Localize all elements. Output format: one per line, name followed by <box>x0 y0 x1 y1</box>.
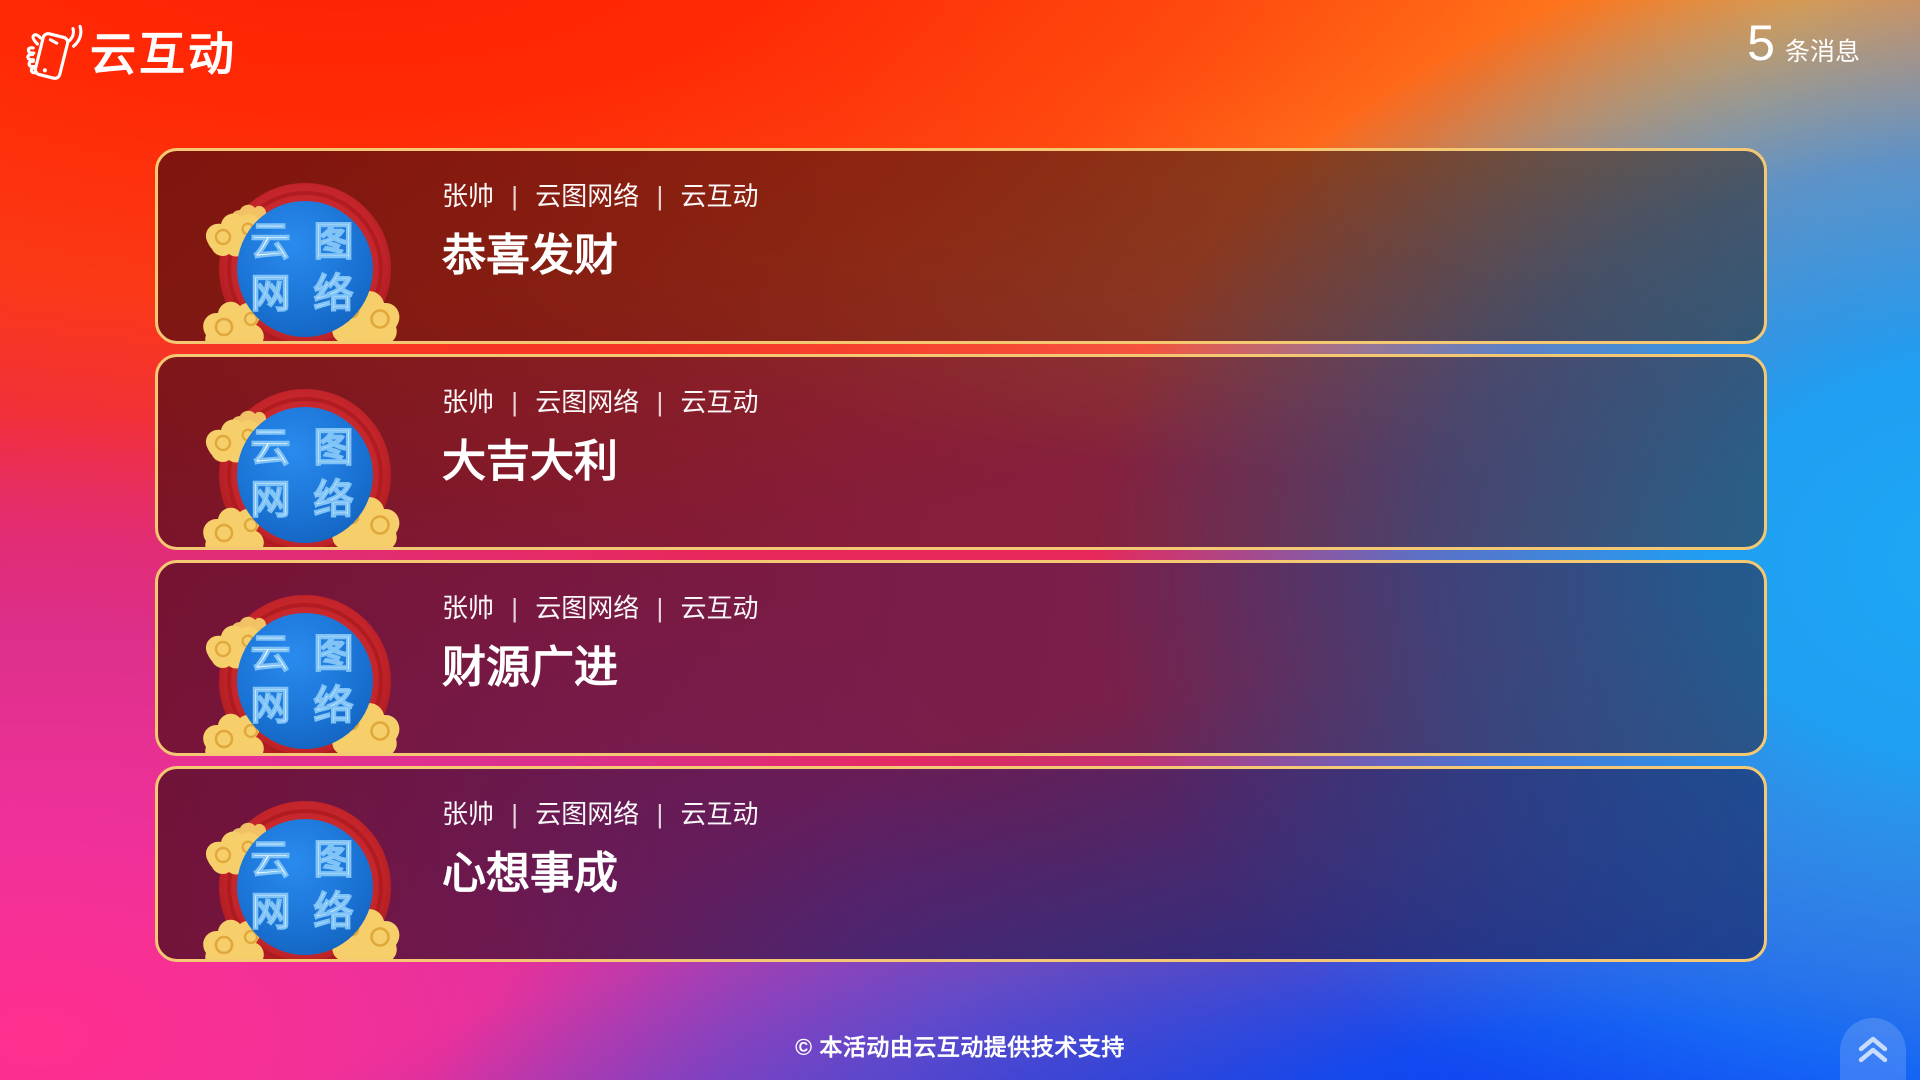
brand-logo[interactable]: 云互动 <box>22 21 237 87</box>
svg-text:云 图: 云 图 <box>250 426 359 470</box>
message-org: 云图网络 <box>535 387 639 417</box>
message-org: 云图网络 <box>535 593 639 623</box>
message-card[interactable]: 云 图 网 络 张帅 | 云图网络 | 云互动 大吉大利 <box>155 354 1767 550</box>
message-channel: 云互动 <box>681 387 759 417</box>
meta-separator: | <box>511 181 518 211</box>
message-text: 心想事成 <box>442 848 1764 901</box>
avatar: 云 图 网 络 <box>190 563 420 756</box>
svg-text:云 图: 云 图 <box>250 632 359 676</box>
message-sender: 张帅 <box>442 387 494 417</box>
svg-text:云 图: 云 图 <box>250 220 359 264</box>
avatar: 云 图 网 络 <box>190 151 420 344</box>
message-card[interactable]: 云 图 网 络 张帅 | 云图网络 | 云互动 心想事成 <box>155 766 1767 962</box>
message-text: 财源广进 <box>442 642 1764 695</box>
avatar: 云 图 网 络 <box>190 357 420 550</box>
svg-text:云 图: 云 图 <box>250 838 359 882</box>
meta-separator: | <box>657 181 664 211</box>
hand-holding-phone-icon <box>22 21 84 87</box>
message-meta: 张帅 | 云图网络 | 云互动 <box>442 799 1764 830</box>
message-meta: 张帅 | 云图网络 | 云互动 <box>442 593 1764 624</box>
message-body: 张帅 | 云图网络 | 云互动 心想事成 <box>420 769 1764 901</box>
message-count-label: 条消息 <box>1785 40 1860 65</box>
svg-text:网 络: 网 络 <box>250 889 359 934</box>
message-body: 张帅 | 云图网络 | 云互动 财源广进 <box>420 563 1764 695</box>
meta-separator: | <box>511 593 518 623</box>
meta-separator: | <box>511 799 518 829</box>
message-count-number: 5 <box>1747 18 1775 68</box>
message-body: 张帅 | 云图网络 | 云互动 恭喜发财 <box>420 151 1764 283</box>
message-text: 大吉大利 <box>442 436 1764 489</box>
meta-separator: | <box>657 387 664 417</box>
scroll-to-top-button[interactable] <box>1840 1018 1906 1080</box>
meta-separator: | <box>657 799 664 829</box>
message-meta: 张帅 | 云图网络 | 云互动 <box>442 181 1764 212</box>
message-channel: 云互动 <box>681 799 759 829</box>
message-org: 云图网络 <box>535 181 639 211</box>
meta-separator: | <box>657 593 664 623</box>
message-card[interactable]: 云 图 网 络 张帅 | 云图网络 | 云互动 财源广进 <box>155 560 1767 756</box>
message-sender: 张帅 <box>442 181 494 211</box>
message-channel: 云互动 <box>681 181 759 211</box>
brand-name: 云互动 <box>90 31 237 77</box>
avatar: 云 图 网 络 <box>190 769 420 962</box>
message-body: 张帅 | 云图网络 | 云互动 大吉大利 <box>420 357 1764 489</box>
message-sender: 张帅 <box>442 799 494 829</box>
message-text: 恭喜发财 <box>442 230 1764 283</box>
message-sender: 张帅 <box>442 593 494 623</box>
svg-text:网 络: 网 络 <box>250 271 359 316</box>
footer-credit: © 本活动由云互动提供技术支持 <box>0 1028 1920 1062</box>
svg-text:网 络: 网 络 <box>250 477 359 522</box>
message-channel: 云互动 <box>681 593 759 623</box>
message-count-badge: 5 条消息 <box>1747 18 1860 68</box>
svg-text:网 络: 网 络 <box>250 683 359 728</box>
message-meta: 张帅 | 云图网络 | 云互动 <box>442 387 1764 418</box>
message-org: 云图网络 <box>535 799 639 829</box>
message-card[interactable]: 云 图 网 络 张帅 | 云图网络 | 云互动 恭喜发财 <box>155 148 1767 344</box>
app-header: 云互动 5 条消息 <box>0 0 1920 108</box>
double-chevron-up-icon <box>1853 1032 1893 1066</box>
meta-separator: | <box>511 387 518 417</box>
message-list: 云 图 网 络 张帅 | 云图网络 | 云互动 恭喜发财 <box>155 148 1767 972</box>
